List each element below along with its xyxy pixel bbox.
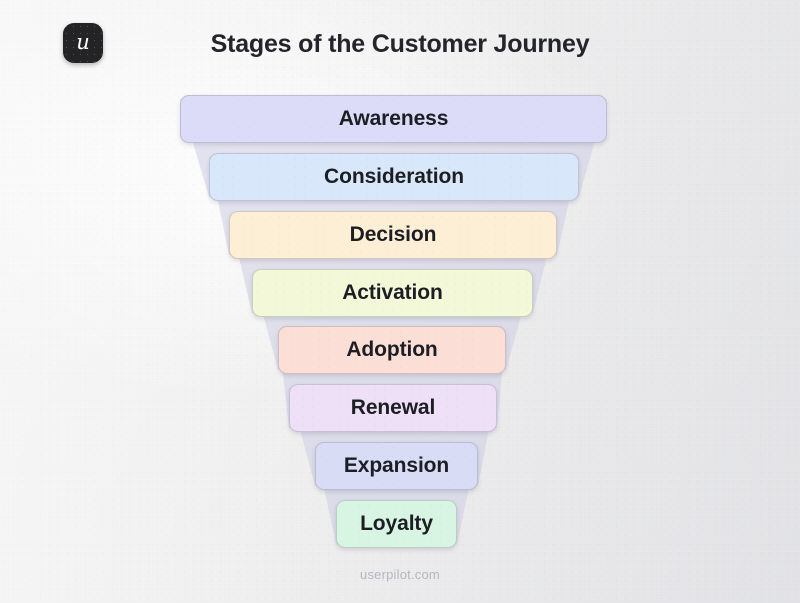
funnel-stage-consideration[interactable]: Consideration — [209, 153, 579, 201]
funnel-stage-adoption[interactable]: Adoption — [278, 326, 506, 374]
funnel-stage-label: Consideration — [324, 165, 464, 189]
footer-attribution: userpilot.com — [0, 567, 800, 582]
funnel-stage-label: Awareness — [339, 107, 449, 131]
slide-canvas: u Stages of the Customer Journey Awarene… — [0, 0, 800, 603]
funnel-stage-awareness[interactable]: Awareness — [180, 95, 607, 143]
funnel-stage-label: Adoption — [346, 338, 437, 362]
funnel-stage-label: Decision — [350, 223, 437, 247]
funnel-stage-loyalty[interactable]: Loyalty — [336, 500, 457, 548]
funnel-stage-activation[interactable]: Activation — [252, 269, 533, 317]
funnel-stage-label: Activation — [342, 281, 443, 305]
funnel-stage-renewal[interactable]: Renewal — [289, 384, 497, 432]
funnel-stage-expansion[interactable]: Expansion — [315, 442, 478, 490]
funnel-stage-label: Expansion — [344, 454, 449, 478]
funnel-stage-label: Loyalty — [360, 512, 433, 536]
funnel-stage-decision[interactable]: Decision — [229, 211, 557, 259]
funnel-stage-label: Renewal — [351, 396, 436, 420]
customer-journey-funnel: AwarenessConsiderationDecisionActivation… — [0, 0, 800, 603]
